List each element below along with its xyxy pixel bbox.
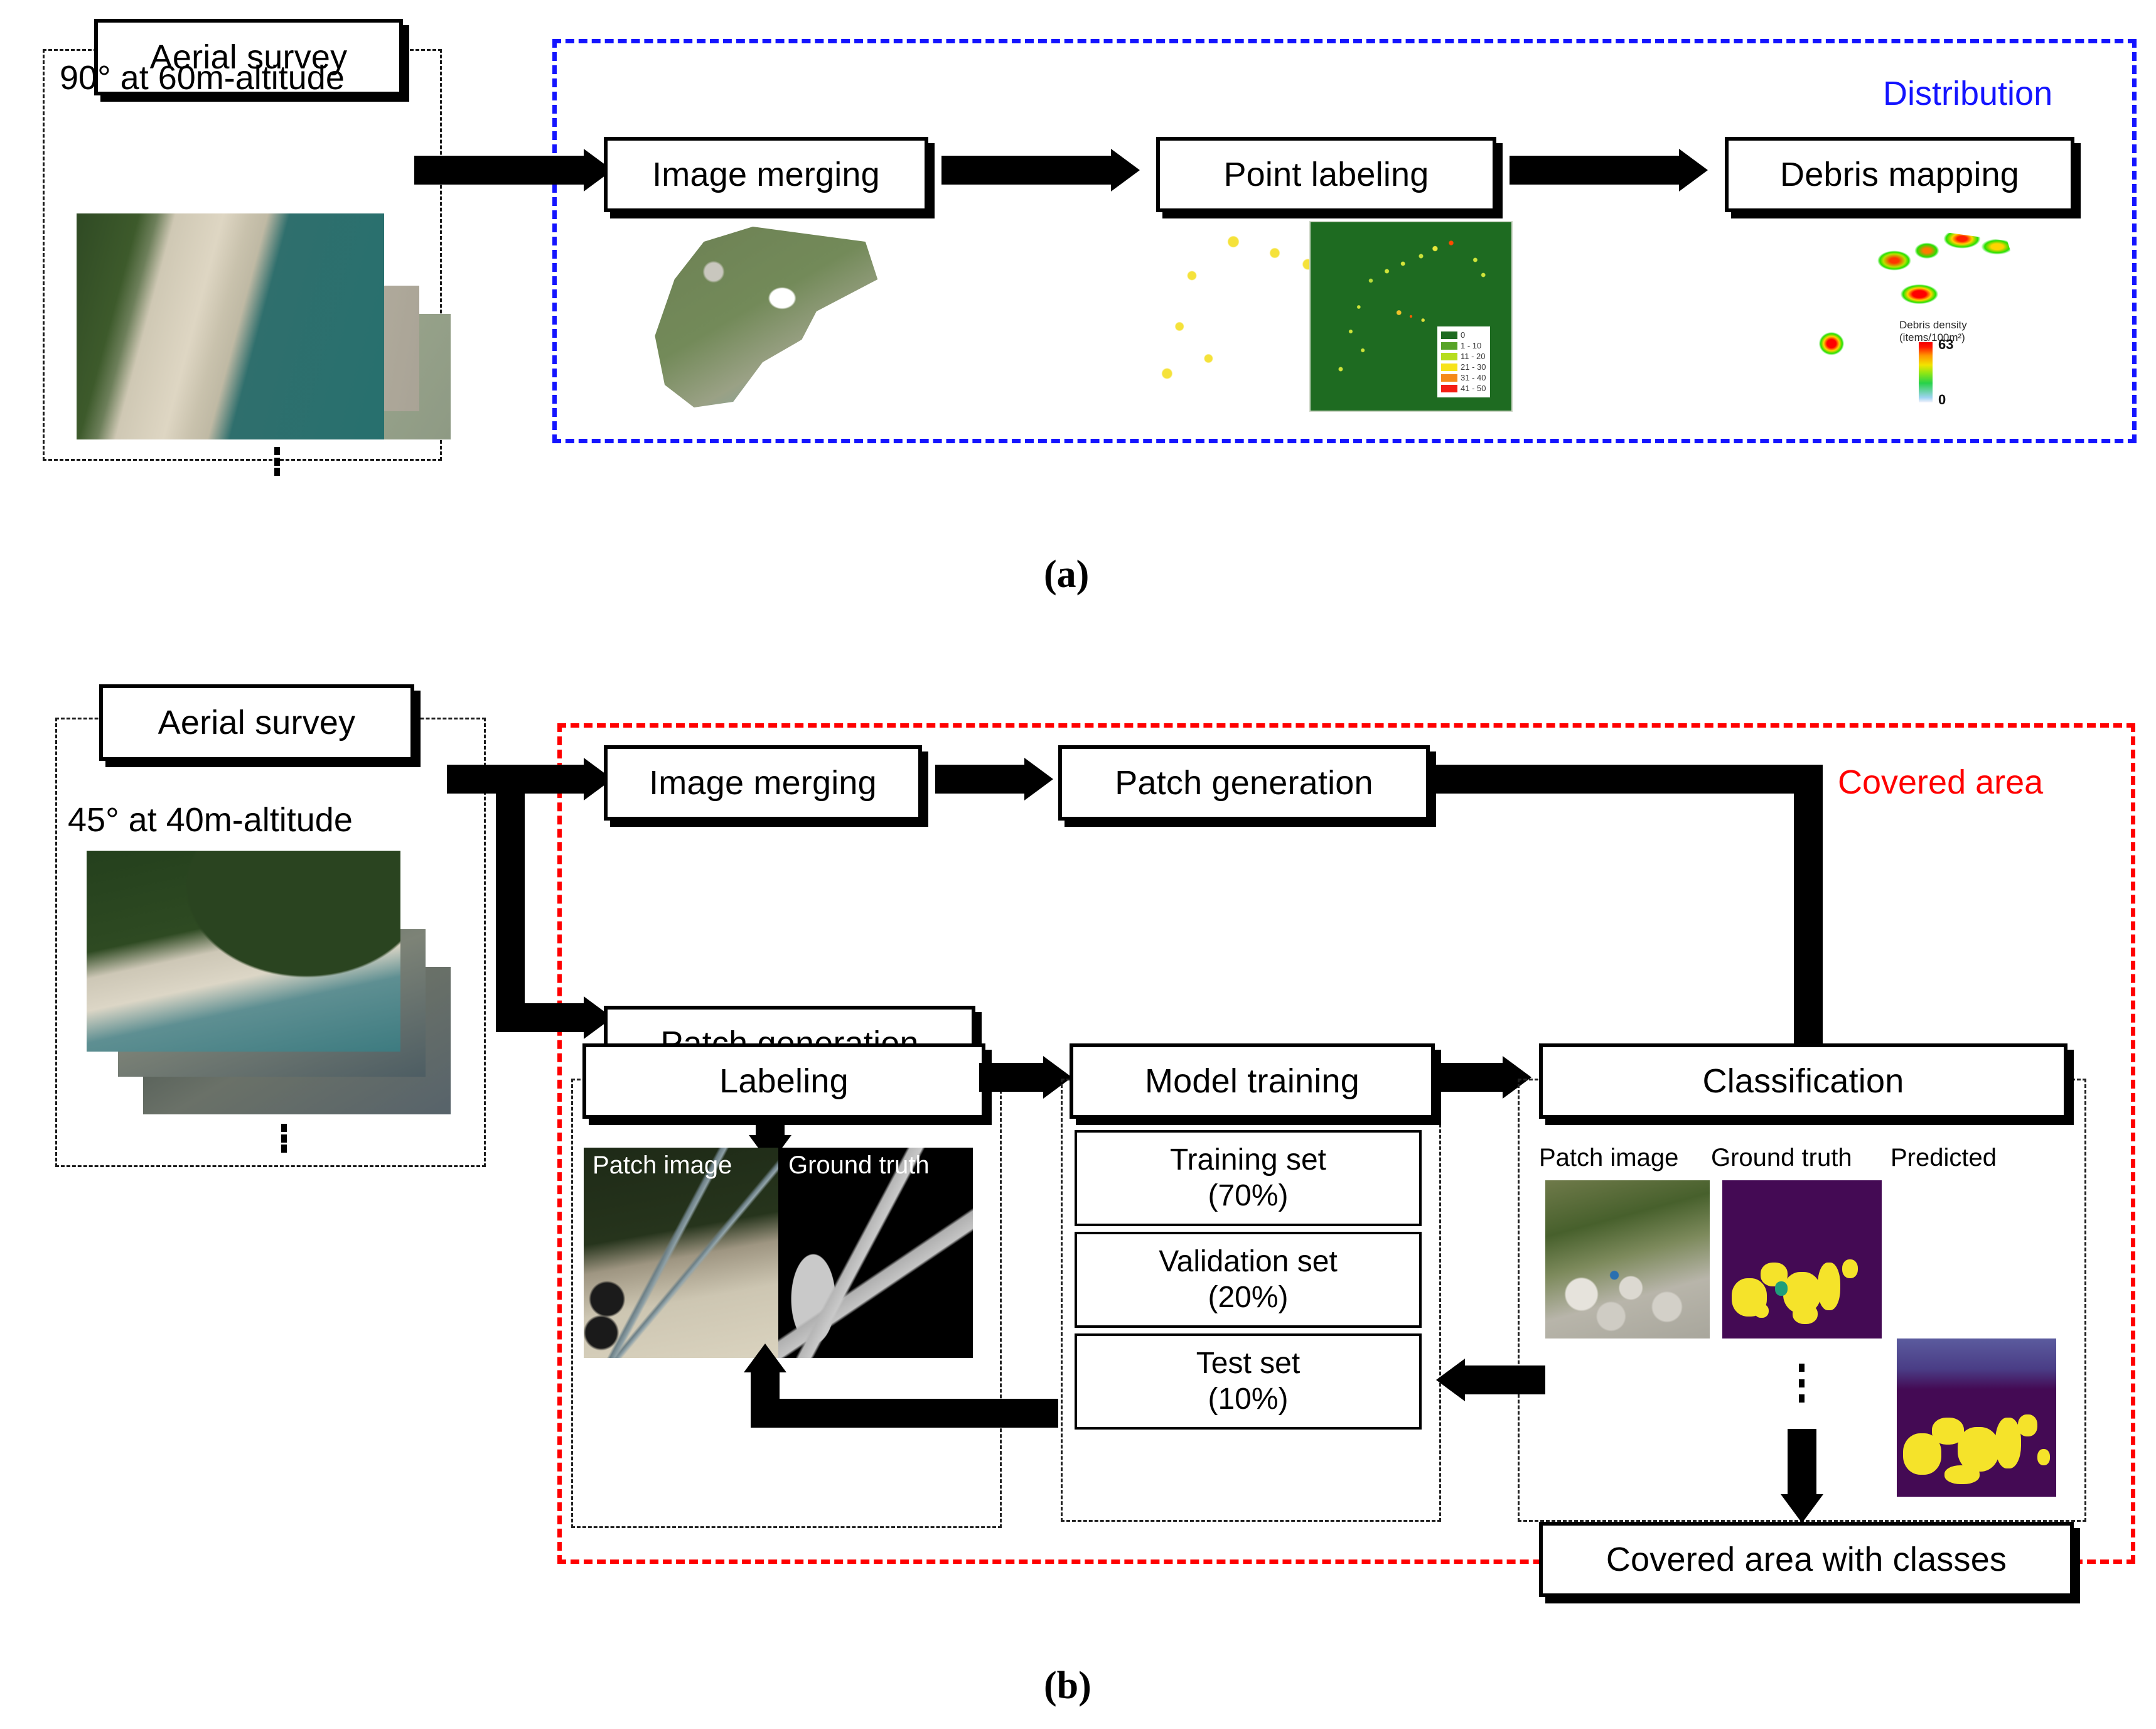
covered-area-group-label: Covered area [1838,763,2043,802]
panel-a-density-min-value: 0 [1938,392,1946,408]
legend-label: 21 - 30 [1461,362,1486,372]
panel-b-patch-generation-top-box[interactable]: Patch generation [1058,745,1430,821]
panel-b-labeling-box[interactable]: Labeling [582,1043,985,1119]
panel-a-caption: (a) [1044,552,1089,597]
panel-b-classification-box[interactable]: Classification [1539,1043,2068,1119]
validation-set-pct: (20%) [1208,1280,1288,1316]
arrow-b-feedback-to-training-head [1436,1359,1465,1401]
mask-blob [1842,1259,1858,1278]
classification-patch-image-caption: Patch image [1539,1144,1678,1172]
validation-set-box[interactable]: Validation set (20%) [1075,1232,1422,1328]
arrow-b-branch-vertical [496,782,525,1023]
arrow-a-merging-to-point-shaft [941,156,1117,185]
legend-label: 0 [1461,330,1465,340]
legend-label: 31 - 40 [1461,373,1486,382]
training-set-name: Training set [1170,1143,1326,1178]
legend-swatch [1441,353,1457,360]
labeling-patch-image-caption: Patch image [593,1151,732,1180]
arrow-a-point-to-debris-shaft [1510,156,1685,185]
legend-row: 21 - 30 [1441,362,1486,372]
panel-a-density-max-value: 63 [1938,337,1953,353]
labeling-patch-pair: Patch image Ground truth [584,1148,973,1358]
arrow-b-patchgen-to-classification-horizontal [1432,765,1821,794]
arrow-b-classification-to-covered-shaft [1788,1429,1816,1498]
arrow-b-feedback-from-classification [1462,1365,1545,1394]
arrow-b-classification-to-covered-head [1781,1494,1823,1523]
mask-blob [1818,1263,1840,1310]
classification-predicted-caption: Predicted [1891,1144,1997,1172]
labeling-ground-truth-image: Ground truth [778,1148,973,1358]
mask-blob [2037,1449,2050,1465]
legend-swatch [1441,385,1457,392]
panel-b-photo-stack-ellipsis [281,1124,287,1153]
panel-a-image-merging-box[interactable]: Image merging [604,137,928,212]
panel-a-point-labeling-box[interactable]: Point labeling [1156,137,1496,212]
labeling-patch-image: Patch image [584,1148,778,1358]
panel-b-image-merging-box[interactable]: Image merging [604,745,922,821]
arrow-b-merging-to-patchgen-shaft [935,765,1031,794]
panel-a-photo-stack-ellipsis [274,447,281,476]
panel-a-survey-note: 90° at 60m-altitude [60,58,345,97]
panel-a-density-legend-title: Debris density (items/100m²) [1899,319,1967,343]
mask-blob [1944,1465,1980,1484]
classification-ground-truth-mask [1722,1180,1882,1338]
mask-blob [1793,1304,1818,1325]
panel-b-covered-area-with-classes-box[interactable]: Covered area with classes [1539,1522,2074,1597]
classification-series-ellipsis [1799,1364,1806,1403]
legend-label: 1 - 10 [1461,341,1481,350]
test-set-box[interactable]: Test set (10%) [1075,1333,1422,1430]
arrow-b-feedback-to-labeling-horizontal [751,1399,1058,1428]
arrow-b-feedback-to-labeling-head [744,1344,786,1372]
panel-b-model-training-box[interactable]: Model training [1070,1043,1435,1119]
arrow-a-merging-to-point-head [1111,149,1140,191]
training-set-box[interactable]: Training set (70%) [1075,1130,1422,1226]
panel-b-oblique-photo-1 [87,851,400,1052]
legend-label: 41 - 50 [1461,384,1486,393]
mask-blob-teal [1775,1281,1788,1296]
classification-ground-truth-caption: Ground truth [1711,1144,1852,1172]
panel-a-debris-mapping-box[interactable]: Debris mapping [1725,137,2074,212]
arrow-a-point-to-debris-head [1679,149,1708,191]
legend-swatch [1441,331,1457,339]
legend-swatch [1441,364,1457,371]
legend-row: 31 - 40 [1441,372,1486,383]
legend-row: 11 - 20 [1441,351,1486,362]
classification-predicted-mask [1897,1338,2056,1497]
panel-b-aerial-survey-box[interactable]: Aerial survey [99,684,414,761]
density-legend-title-line1: Debris density [1899,319,1967,331]
training-set-pct: (70%) [1208,1178,1288,1214]
distribution-group-label: Distribution [1883,74,2052,113]
arrow-a-survey-to-merging-shaft [414,156,590,185]
arrow-b-patchgen-to-classification-vertical [1794,765,1823,1057]
panel-b-caption: (b) [1044,1664,1091,1708]
arrow-b-merging-to-patchgen-head [1024,758,1053,800]
panel-a-aerial-photo-1 [77,213,384,439]
legend-row: 1 - 10 [1441,340,1486,351]
arrow-b-branch-horizontal-bottom [496,1003,591,1032]
classification-patch-image [1545,1180,1710,1338]
legend-swatch [1441,374,1457,382]
test-set-pct: (10%) [1208,1382,1288,1418]
mask-blob [1754,1304,1769,1318]
panel-a-density-colorbar [1919,342,1933,402]
mask-blob [2018,1414,2037,1436]
legend-row: 41 - 50 [1441,383,1486,394]
labeling-ground-truth-caption: Ground truth [788,1151,930,1180]
mask-blob [1995,1418,2021,1468]
arrow-b-training-to-classification-shaft [1439,1063,1509,1092]
panel-b-survey-note: 45° at 40m-altitude [68,800,353,839]
test-set-name: Test set [1196,1346,1300,1382]
legend-row: 0 [1441,330,1486,340]
validation-set-name: Validation set [1159,1244,1338,1280]
panel-a-point-legend: 0 1 - 10 11 - 20 21 - 30 31 - 40 41 - 50 [1437,326,1490,397]
legend-swatch [1441,342,1457,350]
arrow-b-labeling-to-training-shaft [979,1063,1049,1092]
density-legend-title-line2: (items/100m²) [1899,331,1965,343]
legend-label: 11 - 20 [1461,352,1486,361]
arrow-b-feedback-to-labeling-vertical [751,1372,780,1410]
